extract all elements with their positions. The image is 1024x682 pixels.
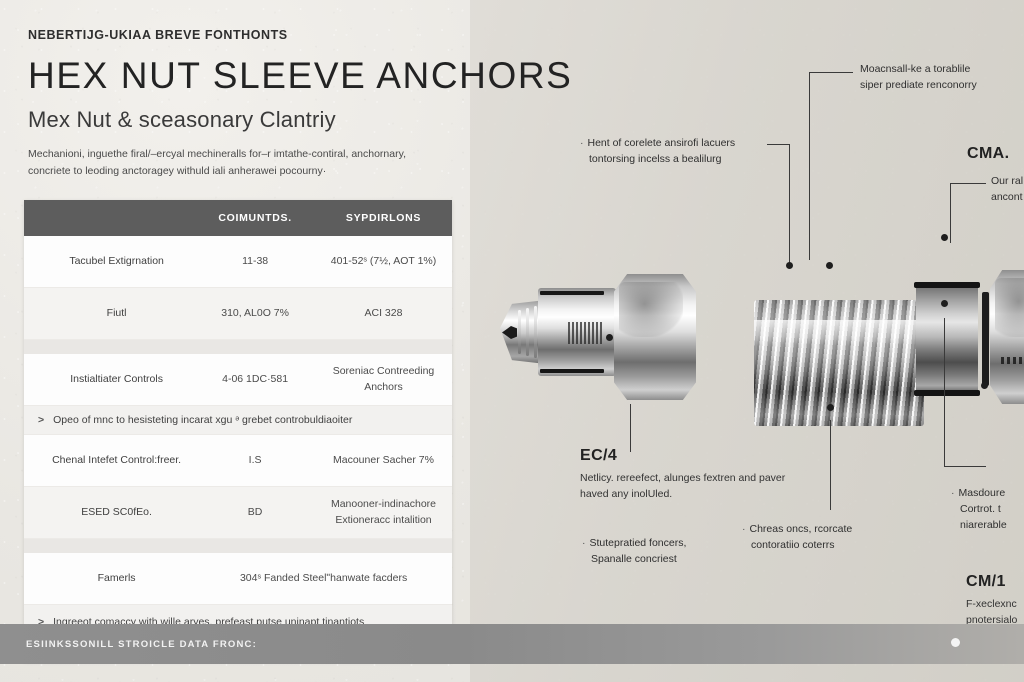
callout-line-wrap: ·Masdoure bbox=[951, 486, 1024, 502]
table-row[interactable]: Instialtiater Controls 4-06 1DC·581 Sore… bbox=[24, 354, 452, 406]
callout-right-mid: ·Masdoure Cortrot. t niarerable bbox=[951, 486, 1024, 533]
callout-line: ancont bbox=[991, 190, 1024, 206]
callout-dot bbox=[941, 300, 948, 307]
table-row[interactable]: Tacubel Extigrnation 11-38 401-52ˢ (7½, … bbox=[24, 236, 452, 288]
row-spec: Soreniac Contreeding Anchors bbox=[315, 364, 452, 394]
leader-line bbox=[950, 183, 951, 243]
callout-line: Netlicy. rereefect, alunges fextren and … bbox=[580, 471, 850, 487]
callout-upper-left: ·Hent of corelete ansirofi lacuers tonto… bbox=[580, 136, 790, 168]
callout-bottom-left: ·Stutepratied foncers, Spanalle concries… bbox=[582, 536, 762, 568]
leader-line bbox=[944, 318, 945, 466]
row-value: I.S bbox=[195, 453, 315, 468]
bullet-icon: · bbox=[742, 523, 746, 535]
callout-dot bbox=[786, 262, 793, 269]
intro-paragraph: Mechanioni, inguethe firal/–ercyal mechi… bbox=[28, 146, 446, 180]
leader-line bbox=[830, 420, 831, 510]
callout-dot bbox=[981, 382, 988, 389]
row-value: 304ˢ Fanded Steelʺhanwate facders bbox=[195, 571, 452, 586]
page-subtitle: Mex Nut & sceasonary Clantriy bbox=[28, 107, 446, 132]
table-section-gap bbox=[24, 340, 452, 354]
bullet-icon: · bbox=[580, 137, 584, 149]
callout-cma: CMA. bbox=[967, 142, 1024, 166]
row-value: 4-06 1DC·581 bbox=[195, 372, 315, 387]
callout-line: Spanalle concriest bbox=[582, 552, 762, 568]
table-row[interactable]: Chenal Intefet Control:freer. I.S Macoun… bbox=[24, 435, 452, 487]
callout-line: Moacnsall-ke a torablile bbox=[860, 62, 1024, 78]
callout-top-right: Moacnsall-ke a torablile siper prediate … bbox=[860, 62, 1024, 94]
footer-bar: ESIINKSSONILL STROICLE DATA FRONC: bbox=[0, 624, 1024, 664]
table-header-cell-1: COIMUNTDS. bbox=[195, 212, 315, 224]
footer-text: ESIINKSSONILL STROICLE DATA FRONC: bbox=[26, 639, 257, 650]
table-row-wide[interactable]: Famerls 304ˢ Fanded Steelʺhanwate facder… bbox=[24, 553, 452, 605]
leader-line bbox=[950, 183, 986, 184]
leader-line bbox=[630, 404, 631, 452]
callout-line: F-xeclexnc bbox=[966, 597, 1024, 613]
callout-line-wrap: ·Hent of corelete ansirofi lacuers bbox=[580, 136, 790, 152]
callout-line: Stutepratied foncers, bbox=[590, 537, 687, 549]
row-spec: Manooner-indinachore Extioneracc intalit… bbox=[315, 497, 452, 527]
callout-line: Masdoure bbox=[959, 487, 1006, 499]
callout-line-wrap: ·Stutepratied foncers, bbox=[582, 536, 762, 552]
table-section-gap bbox=[24, 539, 452, 553]
callout-dot bbox=[606, 334, 613, 341]
leader-line bbox=[809, 72, 853, 73]
callout-title: CM/1 bbox=[966, 570, 1024, 594]
callout-line: Hent of corelete ansirofi lacuers bbox=[588, 137, 736, 149]
row-spec: 401-52ˢ (7½, AOT 1%) bbox=[315, 254, 452, 269]
callout-line: tontorsing incelss a bealilurg bbox=[580, 152, 790, 168]
leader-line bbox=[944, 466, 986, 467]
row-label: Instialtiater Controls bbox=[24, 372, 195, 387]
eyebrow-label: NEBERTIJG-UKIAA BREVE FONTHONTS bbox=[28, 28, 446, 42]
row-label: Fiutl bbox=[24, 306, 195, 321]
callout-line: Our ral bbox=[991, 174, 1024, 190]
table-row[interactable]: Fiutl 310, AL0O 7% ACI 328 bbox=[24, 288, 452, 340]
callout-ec4: EC/4 Netlicy. rereefect, alunges fextren… bbox=[580, 444, 850, 503]
row-value: BD bbox=[195, 505, 315, 520]
bullet-icon: · bbox=[951, 487, 955, 499]
table-header-row: COIMUNTDS. SYPDIRLONS bbox=[24, 200, 452, 236]
table-mid-note: > Opeo of mnc to hesisteting incarat xgu… bbox=[24, 406, 452, 435]
leader-line bbox=[789, 144, 790, 266]
callout-cma-body: Our ral ancont bbox=[991, 174, 1024, 206]
page-indicator-dot[interactable] bbox=[951, 638, 960, 647]
chevron-right-icon: > bbox=[38, 414, 44, 426]
leader-line bbox=[767, 144, 789, 145]
row-label: Tacubel Extigrnation bbox=[24, 254, 195, 269]
row-label: Chenal Intefet Control:freer. bbox=[24, 453, 195, 468]
callout-line: niarerable bbox=[951, 518, 1024, 534]
callout-line: Cortrot. t bbox=[951, 502, 1024, 518]
callout-line: haved any inolUled. bbox=[580, 487, 850, 503]
mid-note-text: Opeo of mnc to hesisteting incarat xgu ᵊ… bbox=[53, 414, 352, 426]
callout-line: siper prediate renconorry bbox=[860, 78, 1024, 94]
row-spec: ACI 328 bbox=[315, 306, 452, 321]
table-row[interactable]: ESED SC0fEo. BD Manooner-indinachore Ext… bbox=[24, 487, 452, 539]
callout-line: Chreas oncs, rcorcate bbox=[750, 523, 853, 535]
row-label: ESED SC0fEo. bbox=[24, 505, 195, 520]
row-value: 310, AL0O 7% bbox=[195, 306, 315, 321]
specification-table: COIMUNTDS. SYPDIRLONS Tacubel Extigrnati… bbox=[24, 200, 452, 661]
callout-dot bbox=[941, 234, 948, 241]
callout-line: contoratiio coterrs bbox=[742, 538, 932, 554]
callout-title: CMA. bbox=[967, 142, 1024, 166]
bullet-icon: · bbox=[582, 537, 586, 549]
callout-layer: Moacnsall-ke a torablile siper prediate … bbox=[470, 0, 1024, 682]
callout-dot bbox=[826, 262, 833, 269]
row-label: Famerls bbox=[24, 571, 195, 586]
callout-line-wrap: ·Chreas oncs, rcorcate bbox=[742, 522, 932, 538]
table-header-cell-2: SYPDIRLONS bbox=[315, 212, 452, 224]
leader-line bbox=[809, 72, 810, 260]
row-spec: Macouner Sacher 7% bbox=[315, 453, 452, 468]
callout-title: EC/4 bbox=[580, 444, 850, 468]
callout-bottom-mid: ·Chreas oncs, rcorcate contoratiio coter… bbox=[742, 522, 932, 554]
row-value: 11-38 bbox=[195, 254, 315, 269]
page-title: HEX NUT SLEEVE ANCHORS bbox=[28, 56, 446, 95]
callout-dot bbox=[827, 404, 834, 411]
